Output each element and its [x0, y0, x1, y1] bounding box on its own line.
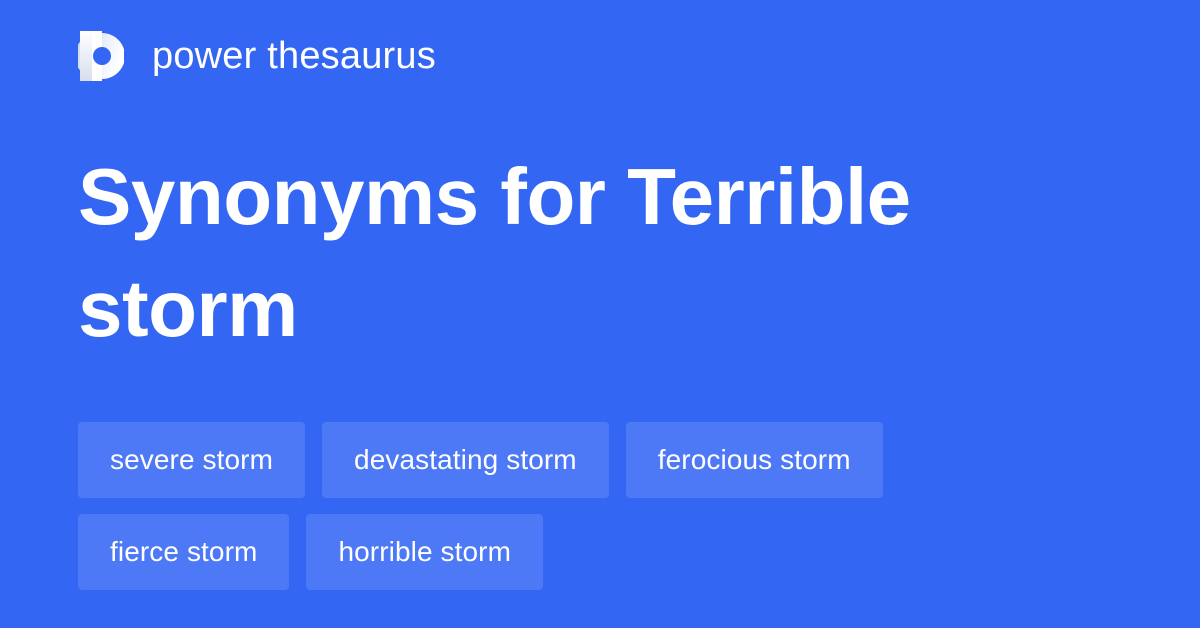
synonym-chip[interactable]: fierce storm	[78, 514, 289, 590]
power-thesaurus-b-logo-icon	[78, 31, 124, 81]
synonym-chip-list: severe storm devastating storm ferocious…	[78, 422, 1078, 590]
page-title: Synonyms for Terrible storm	[78, 141, 1068, 365]
synonym-chip[interactable]: devastating storm	[322, 422, 609, 498]
synonym-chip[interactable]: horrible storm	[306, 514, 543, 590]
social-card: power thesaurus Synonyms for Terrible st…	[0, 0, 1200, 628]
synonym-chip[interactable]: ferocious storm	[626, 422, 883, 498]
brand-name: power thesaurus	[152, 37, 436, 75]
brand-header[interactable]: power thesaurus	[78, 28, 436, 84]
synonym-chip[interactable]: severe storm	[78, 422, 305, 498]
